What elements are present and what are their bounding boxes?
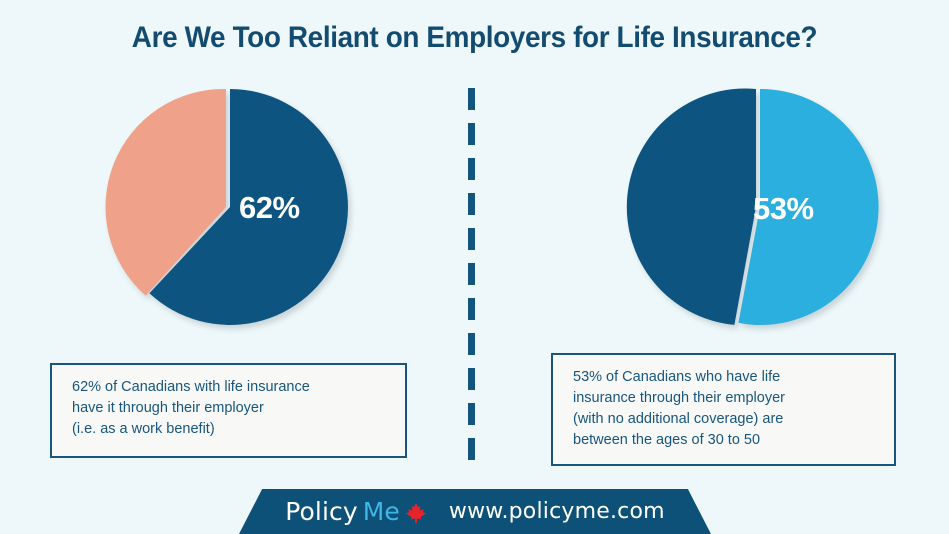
divider-dash bbox=[468, 158, 475, 180]
pie-right-percent-label: 53% bbox=[753, 191, 814, 227]
pie-chart-left: 62% bbox=[110, 87, 350, 327]
caption-right-line-2: insurance through their employer bbox=[573, 388, 880, 409]
caption-right-line-4: between the ages of 30 to 50 bbox=[573, 430, 880, 451]
caption-left-line-3: (i.e. as a work benefit) bbox=[72, 419, 391, 440]
divider-dash bbox=[468, 263, 475, 285]
logo-text-policy: Policy bbox=[285, 497, 358, 526]
divider-dash bbox=[468, 403, 475, 425]
caption-right-line-1: 53% of Canadians who have life bbox=[573, 367, 880, 388]
pie-slice-47 bbox=[627, 89, 756, 325]
website-url[interactable]: www.policyme.com bbox=[449, 499, 665, 524]
infographic-canvas: Are We Too Reliant on Employers for Life… bbox=[0, 0, 949, 534]
divider-dash bbox=[468, 438, 475, 460]
pie-chart-right: 53% bbox=[640, 87, 880, 327]
vertical-dashed-divider bbox=[468, 88, 475, 456]
divider-dash bbox=[468, 193, 475, 215]
divider-dash bbox=[468, 88, 475, 110]
maple-leaf-icon bbox=[405, 501, 427, 523]
caption-box-left: 62% of Canadians with life insurance hav… bbox=[50, 363, 407, 458]
caption-left-line-2: have it through their employer bbox=[72, 398, 391, 419]
footer-content: PolicyMe www.policyme.com bbox=[239, 489, 711, 534]
footer-bar: PolicyMe www.policyme.com bbox=[239, 489, 711, 534]
policyme-logo[interactable]: PolicyMe bbox=[285, 497, 427, 526]
divider-dash bbox=[468, 368, 475, 390]
divider-dash bbox=[468, 333, 475, 355]
caption-left-line-1: 62% of Canadians with life insurance bbox=[72, 377, 391, 398]
caption-right-line-3: (with no additional coverage) are bbox=[573, 409, 880, 430]
page-title: Are We Too Reliant on Employers for Life… bbox=[33, 21, 916, 55]
pie-chart-left-svg bbox=[110, 87, 350, 327]
divider-dash bbox=[468, 298, 475, 320]
caption-box-right: 53% of Canadians who have life insurance… bbox=[551, 353, 896, 466]
logo-text-me: Me bbox=[363, 497, 400, 526]
pie-left-percent-label: 62% bbox=[239, 190, 300, 226]
divider-dash bbox=[468, 123, 475, 145]
divider-dash bbox=[468, 228, 475, 250]
